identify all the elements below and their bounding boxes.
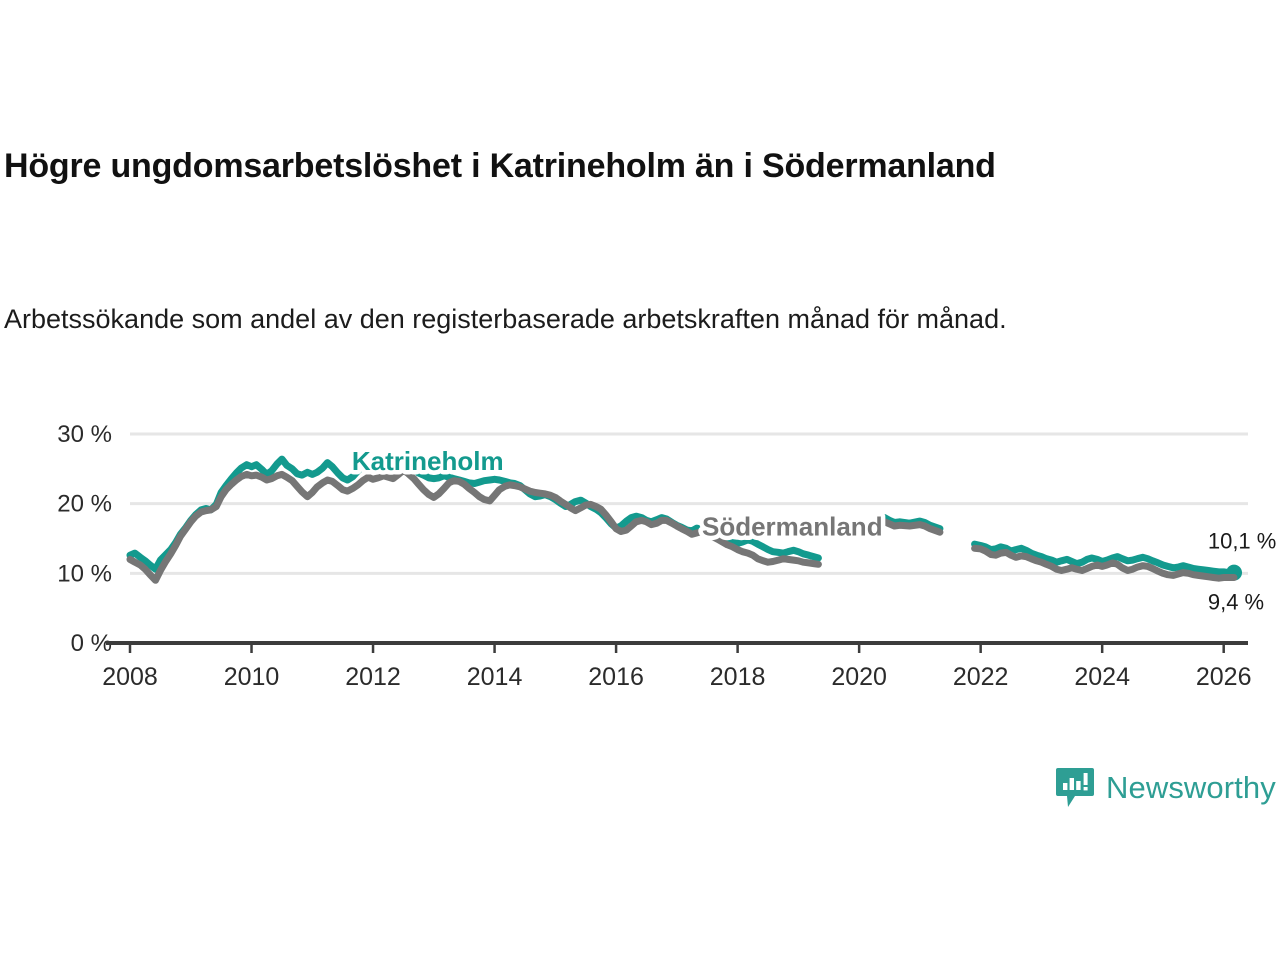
y-tick-label: 30 % bbox=[57, 421, 112, 448]
end-value-label-katrineholm: 10,1 % bbox=[1208, 529, 1277, 554]
y-tick-label: 10 % bbox=[57, 560, 112, 587]
x-tick-label: 2008 bbox=[102, 663, 158, 691]
series-label-katrineholm: Katrineholm bbox=[352, 446, 504, 476]
series-line-katrineholm bbox=[130, 455, 1234, 573]
x-tick-label: 2022 bbox=[953, 663, 1009, 691]
x-tick-label: 2016 bbox=[588, 663, 644, 691]
gridlines bbox=[130, 434, 1248, 573]
x-tick-label: 2026 bbox=[1196, 663, 1252, 691]
y-axis-tick-labels: 0 %10 %20 %30 % bbox=[57, 421, 112, 657]
chart-page: Högre ungdomsarbetslöshet i Katrineholm … bbox=[0, 0, 1280, 960]
newsworthy-logo[interactable]: Newsworthy bbox=[1055, 766, 1276, 810]
series-lines bbox=[130, 455, 1242, 581]
line-chart: 0 %10 %20 %30 % 200820102012201420162018… bbox=[0, 400, 1280, 700]
y-tick-label: 0 % bbox=[71, 630, 112, 657]
bar-chart-speech-bubble-icon bbox=[1055, 766, 1095, 810]
newsworthy-wordmark: Newsworthy bbox=[1106, 770, 1276, 806]
x-tick-label: 2024 bbox=[1074, 663, 1130, 691]
x-tick-label: 2010 bbox=[224, 663, 280, 691]
page-subtitle: Arbetssökande som andel av den registerb… bbox=[4, 298, 1194, 340]
x-tick-label: 2014 bbox=[467, 663, 523, 691]
x-axis bbox=[106, 643, 1248, 653]
x-tick-label: 2012 bbox=[345, 663, 401, 691]
series-label-södermanland: Södermanland bbox=[702, 512, 883, 542]
x-tick-label: 2020 bbox=[831, 663, 887, 691]
y-tick-label: 20 % bbox=[57, 491, 112, 518]
page-title: Högre ungdomsarbetslöshet i Katrineholm … bbox=[4, 144, 1104, 188]
end-value-label-södermanland: 9,4 % bbox=[1208, 590, 1264, 615]
chart-svg: 0 %10 %20 %30 % 200820102012201420162018… bbox=[0, 400, 1280, 700]
x-tick-label: 2018 bbox=[710, 663, 766, 691]
x-axis-tick-labels: 2008201020122014201620182020202220242026 bbox=[102, 663, 1251, 691]
